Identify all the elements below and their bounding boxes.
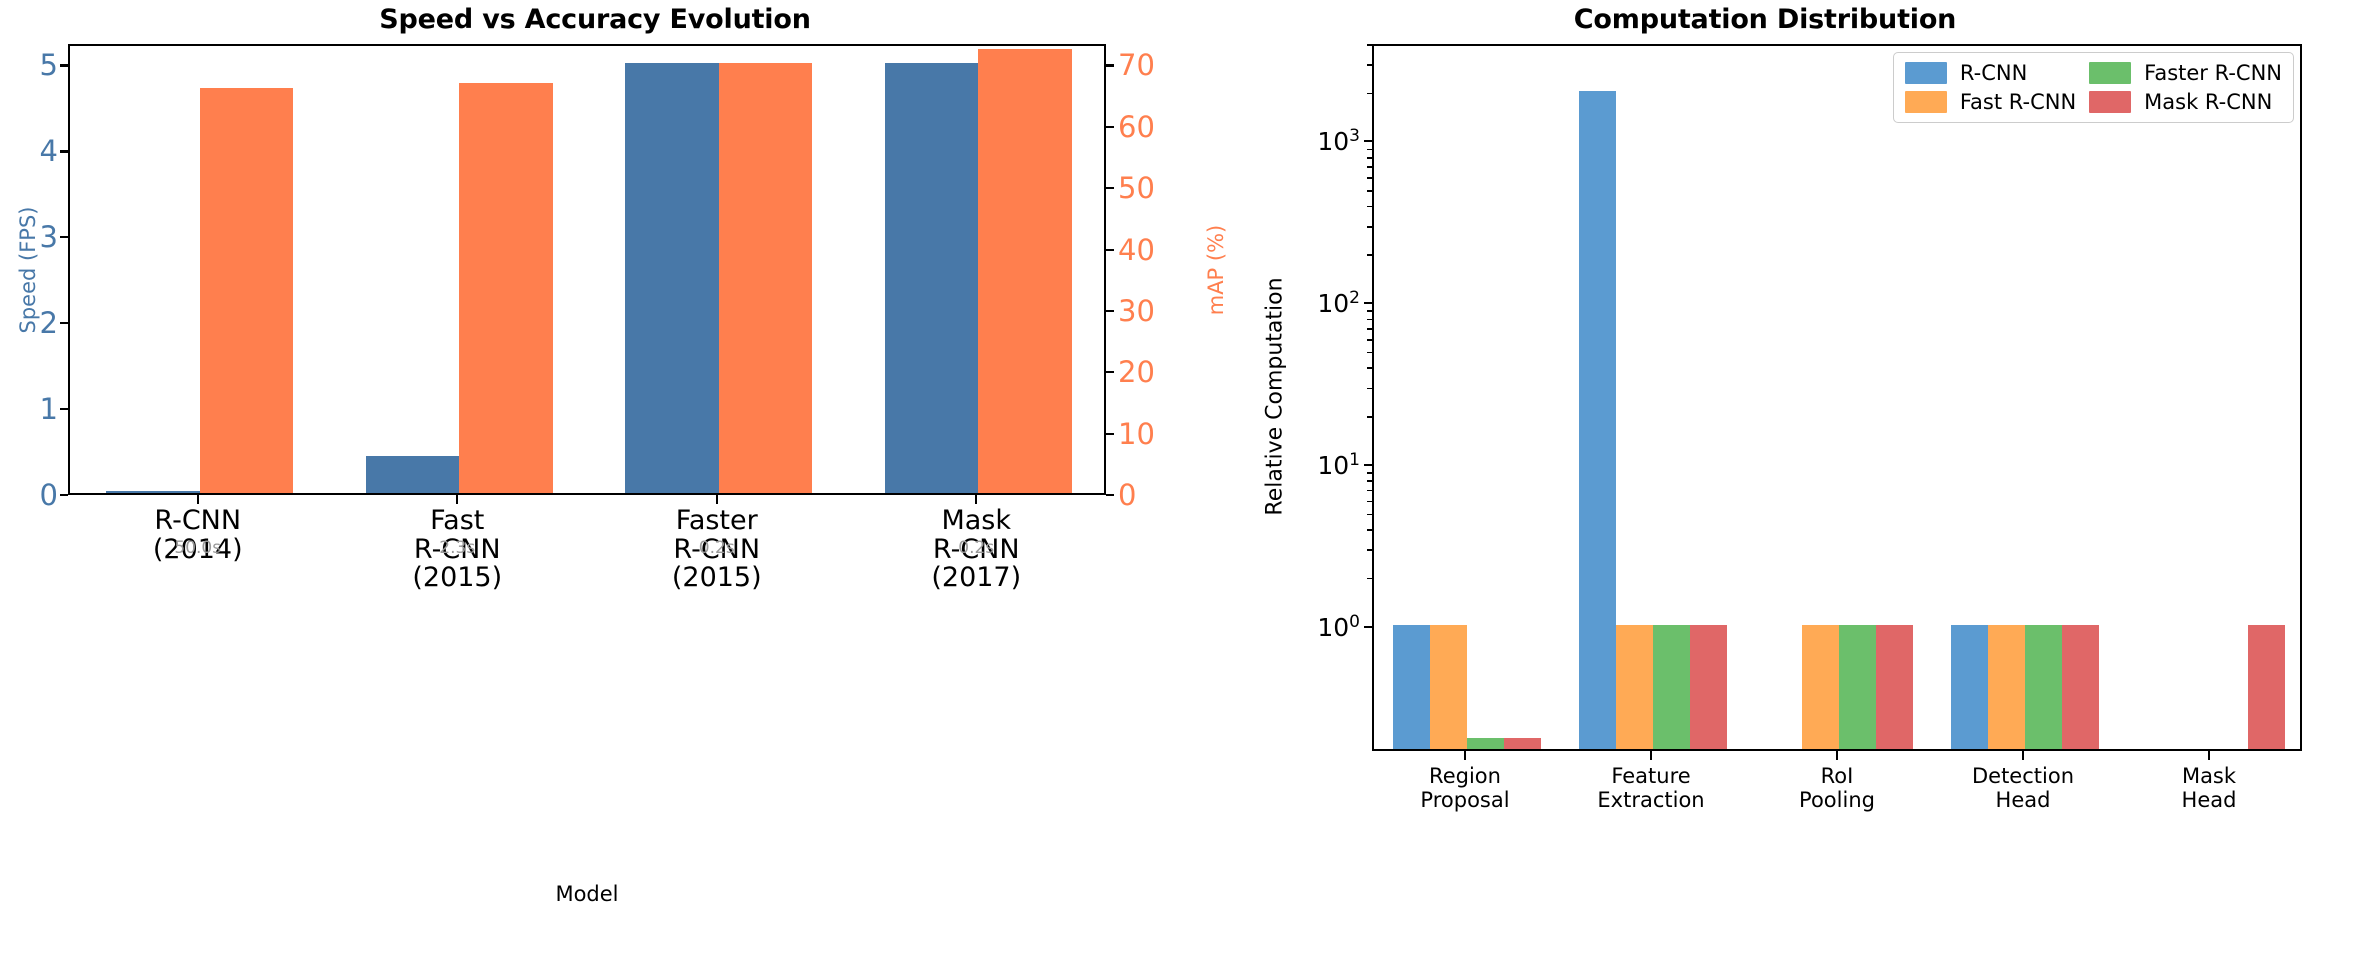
left-bar-map bbox=[978, 49, 1071, 493]
left-x-tick-line: (2015) bbox=[412, 564, 502, 593]
right-y-tick-mark bbox=[1364, 464, 1372, 466]
right-x-tick-line: Detection bbox=[1972, 765, 2074, 789]
left-y2-tick-mark bbox=[1106, 187, 1114, 189]
right-y-minor-tick bbox=[1367, 149, 1372, 151]
right-chart-title: Computation Distribution bbox=[1220, 4, 2310, 35]
left-x-tick-line: (2017) bbox=[931, 564, 1021, 593]
left-bar-map bbox=[719, 63, 812, 493]
left-x-tick-line: R-CNN bbox=[153, 507, 243, 536]
left-y2-tick-label: 0 bbox=[1118, 478, 1170, 512]
right-y-minor-tick bbox=[1367, 177, 1372, 179]
right-x-tick-label: MaskHead bbox=[2182, 765, 2237, 812]
right-bar bbox=[1393, 625, 1430, 749]
right-y-minor-tick bbox=[1367, 529, 1372, 531]
right-bar bbox=[1988, 625, 2025, 749]
right-plot-area: R-CNNFaster R-CNNFast R-CNNMask R-CNN bbox=[1372, 44, 2302, 751]
left-y-tick-label: 0 bbox=[20, 478, 58, 512]
right-y-minor-tick bbox=[1367, 388, 1372, 390]
left-y-tick-mark bbox=[60, 64, 68, 66]
right-y-tick-mark bbox=[1364, 626, 1372, 628]
right-x-tick-line: Region bbox=[1420, 765, 1509, 789]
left-y-tick-mark bbox=[60, 494, 68, 496]
right-y-minor-tick bbox=[1367, 44, 1372, 46]
right-y-tick-label: 102 bbox=[1278, 288, 1360, 318]
right-y-axis-label: Relative Computation bbox=[1263, 231, 1288, 561]
right-bar bbox=[1839, 625, 1876, 749]
right-y-minor-tick bbox=[1367, 206, 1372, 208]
left-y2-tick-label: 50 bbox=[1118, 171, 1170, 205]
right-y-minor-tick bbox=[1367, 490, 1372, 492]
right-y-tick-mark bbox=[1364, 302, 1372, 304]
right-y-minor-tick bbox=[1367, 190, 1372, 192]
right-y-minor-tick bbox=[1367, 166, 1372, 168]
right-bar bbox=[2248, 625, 2285, 749]
left-chart-title: Speed vs Accuracy Evolution bbox=[65, 4, 1125, 35]
left-y-tick-mark bbox=[60, 236, 68, 238]
right-y-minor-tick bbox=[1367, 480, 1372, 482]
right-y-tick-label: 100 bbox=[1278, 611, 1360, 641]
right-bar bbox=[1504, 738, 1541, 749]
left-y-tick-mark bbox=[60, 150, 68, 152]
left-y2-tick-mark bbox=[1106, 249, 1114, 251]
right-y-minor-tick bbox=[1367, 514, 1372, 516]
left-y2-tick-label: 70 bbox=[1118, 48, 1170, 82]
left-y2-tick-label: 40 bbox=[1118, 233, 1170, 267]
right-x-tick-line: RoI bbox=[1799, 765, 1875, 789]
right-y-minor-tick bbox=[1367, 328, 1372, 330]
right-bar bbox=[2025, 625, 2062, 749]
left-x-axis-label: Model bbox=[68, 882, 1106, 906]
right-x-tick-mark bbox=[1836, 751, 1838, 760]
left-bar-annotation: 2.3s bbox=[439, 538, 475, 558]
legend-label: Mask R-CNN bbox=[2144, 90, 2282, 114]
right-y-minor-tick bbox=[1367, 226, 1372, 228]
left-bar-map bbox=[200, 88, 293, 493]
right-y-minor-tick bbox=[1367, 549, 1372, 551]
left-y-tick-label: 1 bbox=[20, 392, 58, 426]
left-x-tick-mark bbox=[456, 495, 458, 504]
right-x-tick-line: Head bbox=[2182, 789, 2237, 813]
right-y-minor-tick bbox=[1367, 64, 1372, 66]
right-x-tick-mark bbox=[2022, 751, 2024, 760]
right-x-tick-mark bbox=[1464, 751, 1466, 760]
right-bar bbox=[1876, 625, 1913, 749]
left-y2-tick-mark bbox=[1106, 64, 1114, 66]
left-y2-tick-label: 60 bbox=[1118, 110, 1170, 144]
legend-label: Fast R-CNN bbox=[1960, 90, 2076, 114]
left-bar-annotation: 50.0s bbox=[174, 538, 221, 558]
chart-computation-distribution: Computation Distribution R-CNNFaster R-C… bbox=[1180, 0, 2356, 954]
right-bar bbox=[1430, 625, 1467, 749]
right-bar bbox=[1653, 625, 1690, 749]
right-y-minor-tick bbox=[1367, 352, 1372, 354]
left-y-axis-label: Speed (FPS) bbox=[16, 190, 40, 350]
chart-speed-vs-accuracy: Speed vs Accuracy Evolution 012345 01020… bbox=[0, 0, 1180, 954]
right-x-tick-mark bbox=[2208, 751, 2210, 760]
legend-label: Faster R-CNN bbox=[2144, 61, 2282, 85]
legend-swatch-mask-r-cnn bbox=[2089, 91, 2131, 113]
right-y-minor-tick bbox=[1367, 367, 1372, 369]
right-y-minor-tick bbox=[1367, 310, 1372, 312]
legend-label: R-CNN bbox=[1960, 61, 2076, 85]
right-y-minor-tick bbox=[1367, 339, 1372, 341]
left-bar-speed bbox=[366, 456, 459, 493]
left-y2-tick-mark bbox=[1106, 371, 1114, 373]
left-y2-tick-mark bbox=[1106, 310, 1114, 312]
left-y2-tick-mark bbox=[1106, 126, 1114, 128]
right-bar bbox=[1690, 625, 1727, 749]
right-y-minor-tick bbox=[1367, 578, 1372, 580]
right-y-minor-tick bbox=[1367, 93, 1372, 95]
right-bar bbox=[1467, 738, 1504, 749]
left-y2-tick-label: 20 bbox=[1118, 355, 1170, 389]
left-bar-annotation: 0.2s bbox=[699, 538, 735, 558]
left-x-tick-mark bbox=[975, 495, 977, 504]
left-y2-tick-label: 30 bbox=[1118, 294, 1170, 328]
right-bar bbox=[1951, 625, 1988, 749]
right-x-tick-line: Pooling bbox=[1799, 789, 1875, 813]
right-y-minor-tick bbox=[1367, 416, 1372, 418]
right-y-minor-tick bbox=[1367, 319, 1372, 321]
left-y2-tick-mark bbox=[1106, 494, 1114, 496]
legend-swatch-r-cnn bbox=[1905, 62, 1947, 84]
right-bar bbox=[1579, 91, 1616, 749]
left-x-tick-mark bbox=[716, 495, 718, 504]
right-x-tick-line: Head bbox=[1972, 789, 2074, 813]
left-plot-area bbox=[68, 44, 1106, 495]
left-bar-speed bbox=[885, 63, 978, 493]
left-y-tick-mark bbox=[60, 408, 68, 410]
right-x-tick-mark bbox=[1650, 751, 1652, 760]
left-x-tick-line: Faster bbox=[672, 507, 762, 536]
left-y-tick-label: 4 bbox=[20, 134, 58, 168]
right-bar bbox=[1616, 625, 1653, 749]
right-y-tick-mark bbox=[1364, 140, 1372, 142]
left-bar-annotation: 0.2s bbox=[958, 538, 994, 558]
right-x-tick-line: Feature bbox=[1597, 765, 1704, 789]
right-y-minor-tick bbox=[1367, 254, 1372, 256]
right-y-tick-label: 103 bbox=[1278, 126, 1360, 156]
right-x-tick-line: Mask bbox=[2182, 765, 2237, 789]
right-y-minor-tick bbox=[1367, 472, 1372, 474]
right-x-tick-line: Proposal bbox=[1420, 789, 1509, 813]
legend: R-CNNFaster R-CNNFast R-CNNMask R-CNN bbox=[1893, 52, 2294, 123]
legend-swatch-fast-r-cnn bbox=[1905, 91, 1947, 113]
right-bar bbox=[2062, 625, 2099, 749]
left-y2-tick-mark bbox=[1106, 433, 1114, 435]
left-x-tick-line: Mask bbox=[931, 507, 1021, 536]
left-x-tick-line: (2015) bbox=[672, 564, 762, 593]
left-y-tick-mark bbox=[60, 322, 68, 324]
left-bar-map bbox=[459, 83, 552, 494]
left-bar-speed bbox=[625, 63, 718, 493]
right-x-tick-label: DetectionHead bbox=[1972, 765, 2074, 812]
figure-root: Speed vs Accuracy Evolution 012345 01020… bbox=[0, 0, 2356, 954]
right-y-minor-tick bbox=[1367, 501, 1372, 503]
right-y-minor-tick bbox=[1367, 157, 1372, 159]
left-y2-tick-label: 10 bbox=[1118, 417, 1170, 451]
right-x-tick-label: RoIPooling bbox=[1799, 765, 1875, 812]
left-y-tick-label: 5 bbox=[20, 48, 58, 82]
right-x-tick-line: Extraction bbox=[1597, 789, 1704, 813]
left-x-tick-mark bbox=[197, 495, 199, 504]
left-x-tick-line: Fast bbox=[412, 507, 502, 536]
right-y-tick-label: 101 bbox=[1278, 450, 1360, 480]
right-x-tick-label: FeatureExtraction bbox=[1597, 765, 1704, 812]
right-x-tick-label: RegionProposal bbox=[1420, 765, 1509, 812]
left-bar-speed bbox=[106, 491, 199, 493]
legend-swatch-faster-r-cnn bbox=[2089, 62, 2131, 84]
right-bar bbox=[1802, 625, 1839, 749]
